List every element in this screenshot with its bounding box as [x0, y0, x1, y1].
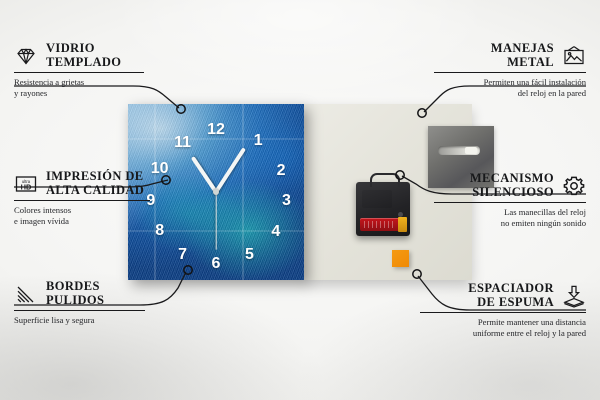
feature-title: MECANISMO SILENCIOSO	[470, 172, 554, 199]
feature-desc: Colores intensos e imagen vívida	[14, 205, 150, 227]
feature-rule	[434, 202, 586, 203]
second-hand	[215, 192, 216, 250]
feature-rule	[420, 312, 586, 313]
feature-desc: Superficie lisa y segura	[14, 315, 145, 326]
diamond-icon	[14, 44, 38, 68]
feature-title: MANEJAS METAL	[491, 42, 554, 69]
feature-bordes-pulidos[interactable]: BORDES PULIDOS Superficie lisa y segura	[14, 280, 145, 326]
feature-desc: Permite mantener una distancia uniforme …	[420, 317, 586, 339]
feature-espaciador-de-espuma[interactable]: ESPACIADOR DE ESPUMA Permite mantener un…	[420, 282, 586, 339]
mechanism-bail	[370, 173, 400, 187]
feature-title: VIDRIO TEMPLADO	[46, 42, 121, 69]
foam-spacer	[392, 250, 409, 267]
feature-rule	[14, 310, 145, 311]
feature-rule	[14, 200, 150, 201]
feature-impresion-alta-calidad[interactable]: ultra HD IMPRESIÓN DE ALTA CALIDAD Color…	[14, 170, 150, 227]
svg-text:HD: HD	[21, 182, 32, 191]
feature-rule	[14, 72, 144, 73]
hour-hand	[191, 156, 218, 193]
clock-hands	[128, 104, 304, 280]
clock-face: 12 1 2 3 4 5 6 7 8 9 10 11	[128, 104, 304, 280]
feature-mecanismo-silencioso[interactable]: MECANISMO SILENCIOSO Las manecillas del …	[434, 172, 586, 229]
minute-hand	[214, 147, 246, 193]
center-pin	[213, 189, 219, 195]
battery-tip	[398, 217, 407, 232]
picture-frame-icon	[562, 44, 586, 68]
product-image: 12 1 2 3 4 5 6 7 8 9 10 11	[128, 104, 472, 280]
quartz-clock-mechanism	[356, 182, 410, 236]
feature-rule	[434, 72, 586, 73]
feature-vidrio-templado[interactable]: VIDRIO TEMPLADO Resistencia a grietas y …	[14, 42, 144, 99]
foam-spacer-icon	[562, 284, 586, 308]
feature-title: IMPRESIÓN DE ALTA CALIDAD	[46, 170, 144, 197]
feature-title: BORDES PULIDOS	[46, 280, 104, 307]
battery	[360, 218, 400, 231]
gear-icon	[562, 174, 586, 198]
feature-manejas-metal[interactable]: MANEJAS METAL Permiten una fácil instala…	[434, 42, 586, 99]
feature-desc: Las manecillas del reloj no emiten ningú…	[434, 207, 586, 229]
polished-edges-icon	[14, 282, 38, 306]
infographic-canvas: 12 1 2 3 4 5 6 7 8 9 10 11	[0, 0, 600, 400]
feature-title: ESPACIADOR DE ESPUMA	[468, 282, 554, 309]
ultra-hd-icon: ultra HD	[14, 172, 38, 196]
feature-desc: Resistencia a grietas y rayones	[14, 77, 144, 99]
hanger-slot	[438, 146, 480, 155]
mechanism-dial	[362, 190, 392, 208]
feature-desc: Permiten una fácil instalación del reloj…	[434, 77, 586, 99]
